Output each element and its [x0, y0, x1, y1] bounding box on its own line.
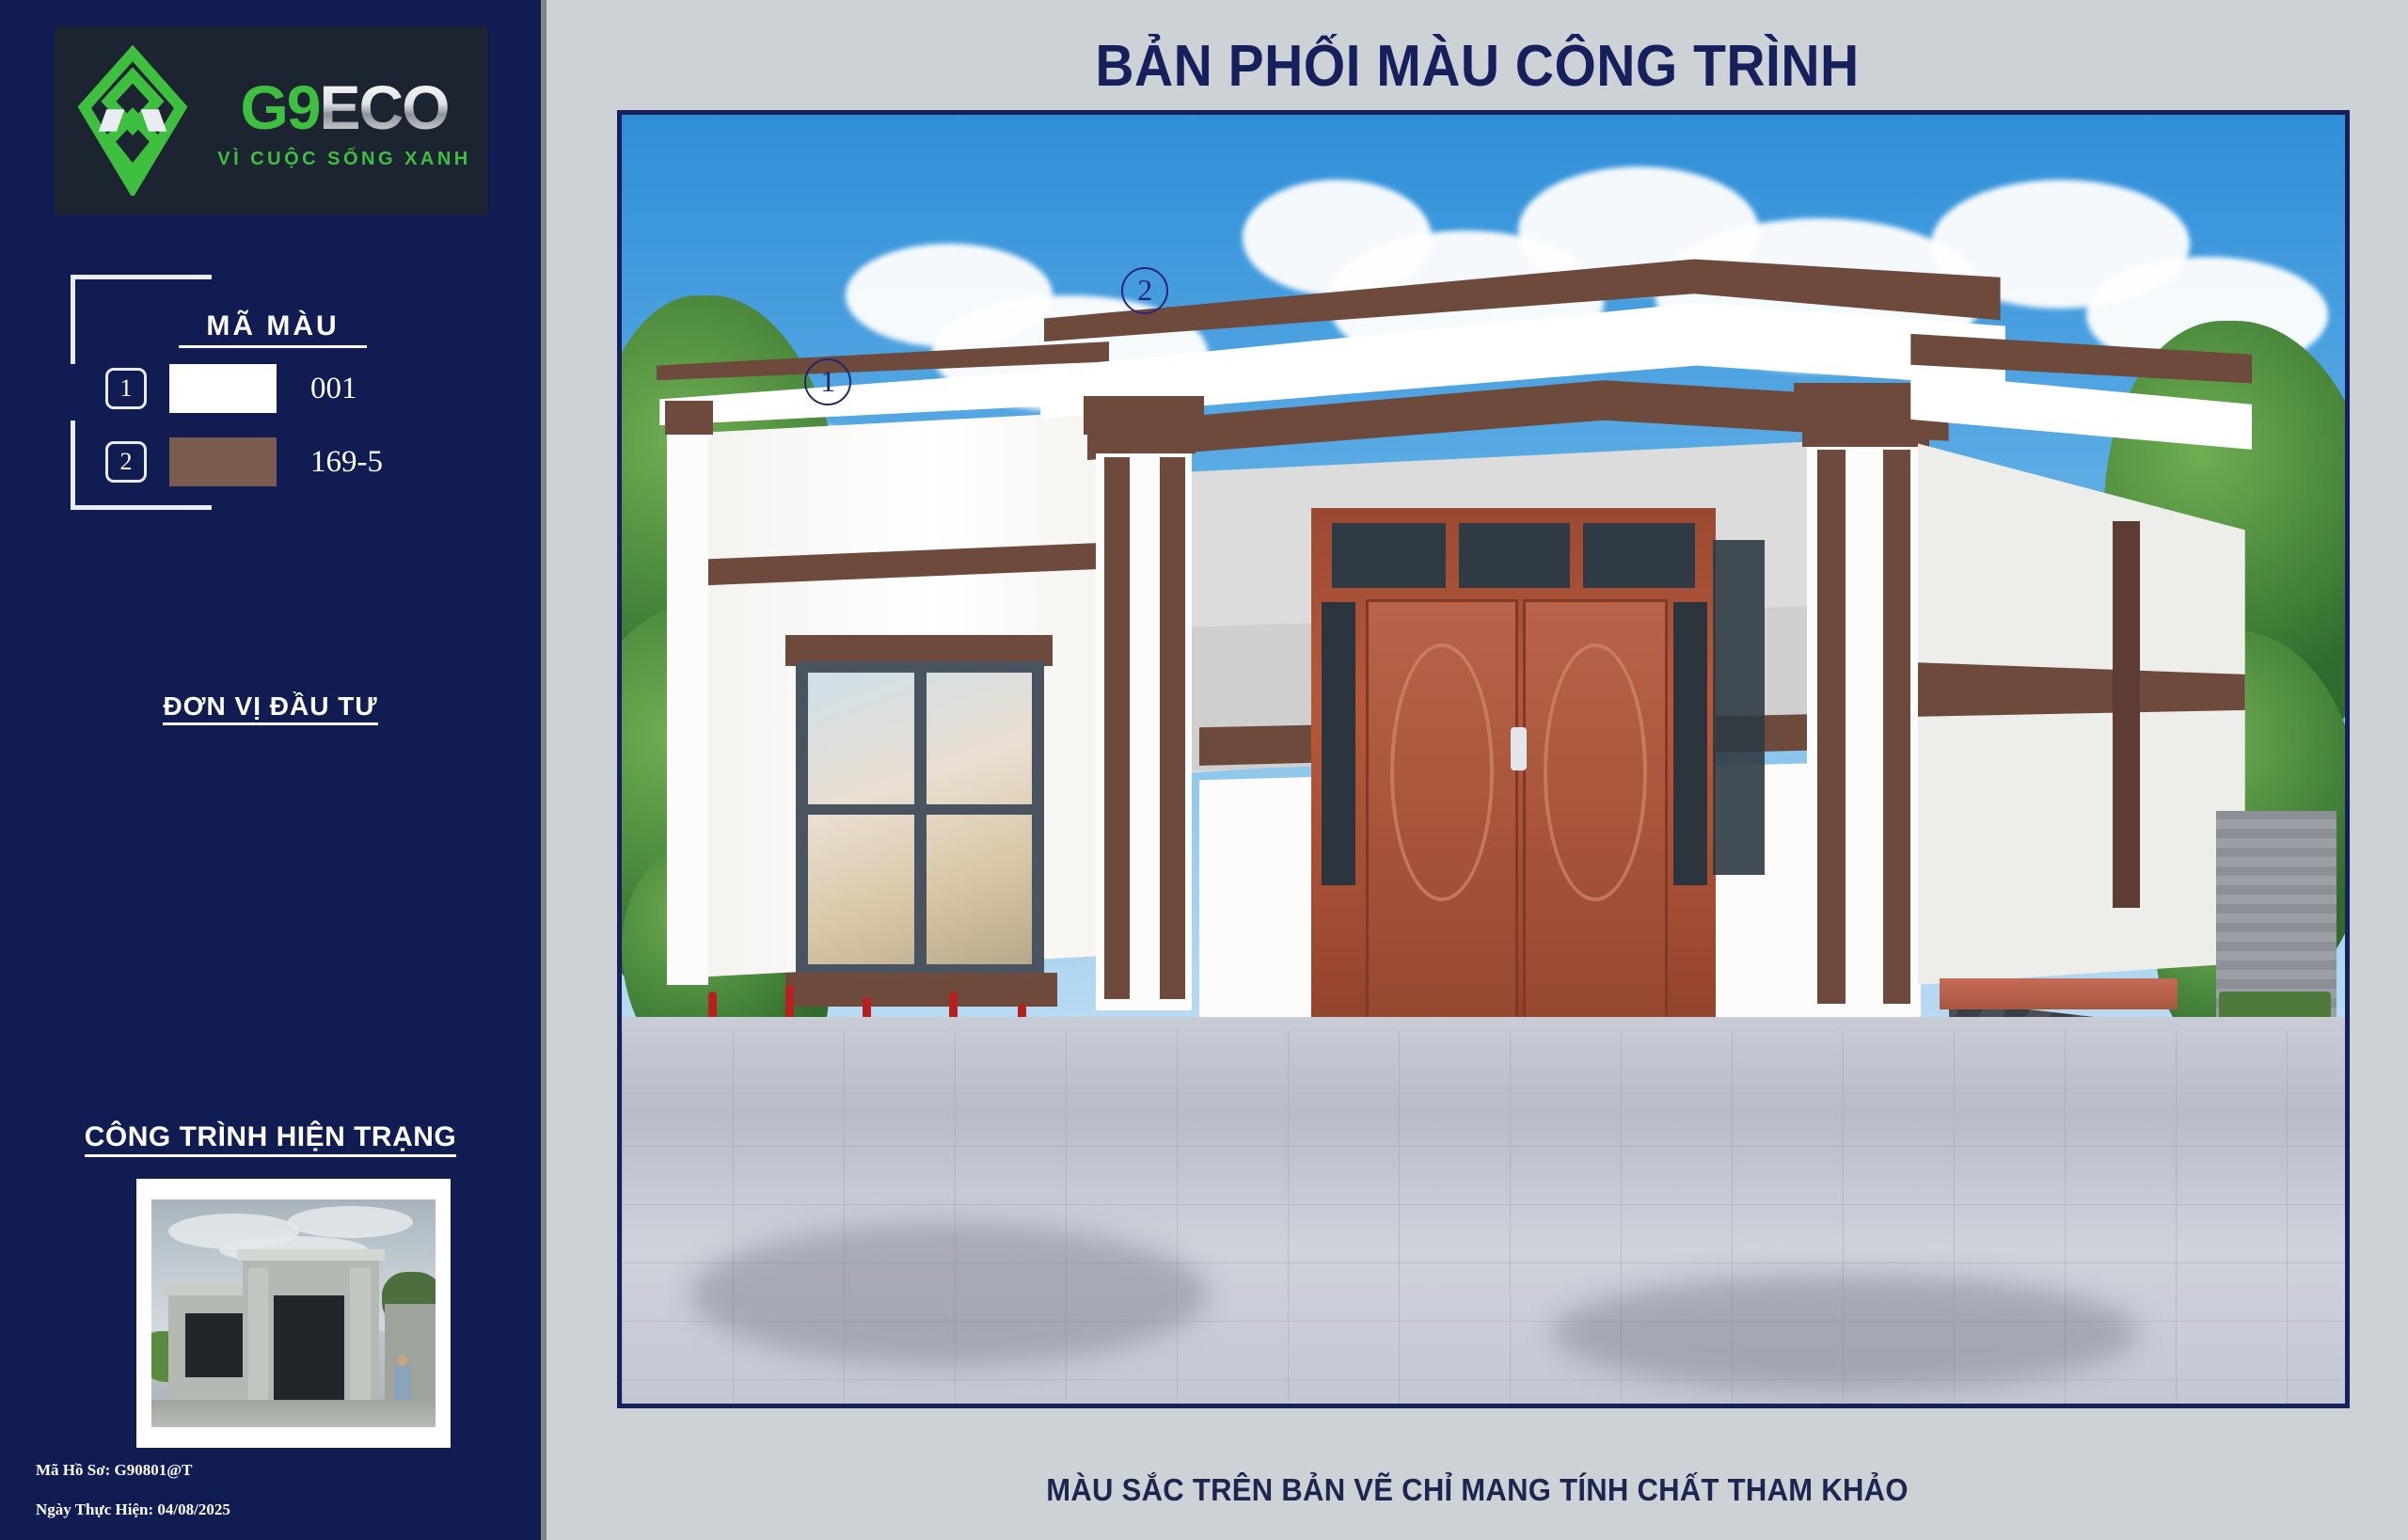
- logo-tagline: VÌ CUỘC SỐNG XANH: [217, 149, 471, 170]
- color-marker-1-label: 1: [820, 364, 835, 399]
- logo-text-eco: ECO: [320, 71, 449, 143]
- existing-building-heading-text: CÔNG TRÌNH HIỆN TRẠNG: [85, 1121, 457, 1157]
- existing-building-heading: CÔNG TRÌNH HIỆN TRẠNG: [0, 1121, 541, 1153]
- green-knot-diamond-logo-icon: [71, 45, 195, 196]
- investor-heading: ĐƠN VỊ ĐẦU TƯ: [0, 691, 541, 722]
- color-legend-list: 1 001 2 169-5: [105, 359, 482, 506]
- color-marker-2[interactable]: 2: [1121, 267, 1168, 314]
- color-marker-2-label: 2: [1137, 273, 1152, 308]
- page-title: BẢN PHỐI MÀU CÔNG TRÌNH: [621, 33, 2334, 100]
- color-swatch: [169, 364, 277, 413]
- color-index-badge: 2: [105, 441, 147, 483]
- color-marker-1[interactable]: 1: [804, 358, 851, 405]
- color-scheme-board: G9ECO VÌ CUỘC SỐNG XANH MÃ MÀU 1 001 2: [0, 0, 2408, 1540]
- color-swatch: [169, 437, 277, 486]
- color-legend-row[interactable]: 1 001: [105, 359, 482, 418]
- footer-meta: Mã Hồ Sơ: G90801@T Ngày Thực Hiện: 04/08…: [36, 1440, 230, 1519]
- main-panel: BẢN PHỐI MÀU CÔNG TRÌNH: [541, 0, 2408, 1540]
- color-index-badge: 1: [105, 368, 147, 409]
- brand-logo: G9ECO VÌ CUỘC SỐNG XANH: [55, 26, 487, 214]
- color-legend-heading: MÃ MÀU: [179, 310, 367, 348]
- color-code-label: 001: [310, 372, 357, 406]
- color-legend-row[interactable]: 2 169-5: [105, 433, 482, 491]
- logo-text-g9: G9: [240, 71, 319, 143]
- color-code-label: 169-5: [310, 445, 383, 480]
- render-image[interactable]: 1 2: [617, 110, 2350, 1408]
- sidebar: G9ECO VÌ CUỘC SỐNG XANH MÃ MÀU 1 001 2: [0, 0, 541, 1540]
- investor-heading-text: ĐƠN VỊ ĐẦU TƯ: [163, 691, 377, 725]
- existing-building-photo[interactable]: [136, 1179, 451, 1448]
- page-caption: MÀU SẮC TRÊN BẢN VẼ CHỈ MANG TÍNH CHẤT T…: [602, 1472, 2352, 1508]
- file-code-label: Mã Hồ Sơ: G90801@T: [36, 1461, 230, 1480]
- date-label: Ngày Thực Hiện: 04/08/2025: [36, 1500, 230, 1519]
